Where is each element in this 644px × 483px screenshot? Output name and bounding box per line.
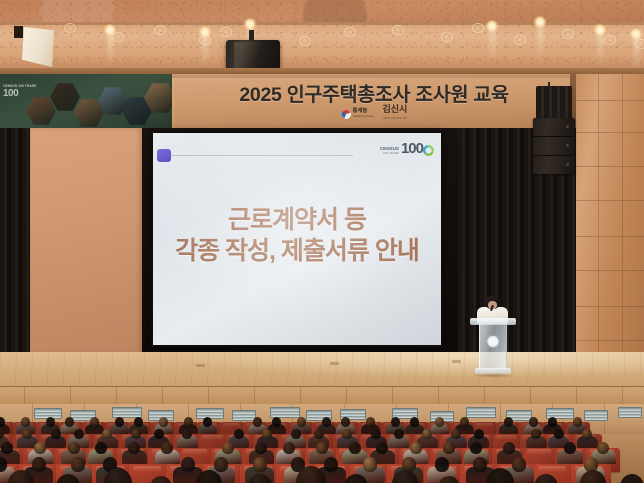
attendee-head: [451, 429, 461, 440]
attendee-head: [554, 429, 564, 440]
seat-highlight: [496, 435, 516, 440]
attendee-head: [474, 429, 484, 440]
wall-panel-seam: [576, 270, 644, 271]
ceiling-soffit-band: [0, 22, 644, 70]
statistics-korea-logo: 통계청 Statistics Korea: [341, 109, 374, 120]
census-logo-sub: 100 YEARS: [380, 151, 399, 156]
census-centennial-photo-banner: CENSUS 100 YEARS 100: [0, 74, 176, 130]
statistics-korea-label: 통계청 Statistics Korea: [353, 109, 374, 120]
taegeuk-mark-icon: [341, 109, 351, 119]
attendee-head: [573, 417, 582, 427]
attendee-head: [460, 417, 469, 427]
attendee-head: [90, 417, 99, 427]
ceiling-downlight-housing: [604, 35, 616, 45]
slide-title: 근로계약서 등 각종 작성, 제출서류 안내: [153, 205, 441, 267]
attendee-head: [297, 417, 306, 427]
line-array-upper-module: [536, 86, 572, 120]
attendee-head: [529, 417, 538, 427]
attendee-head: [74, 429, 84, 440]
attendee-head: [366, 417, 375, 427]
seat-highlight: [133, 466, 161, 472]
attendee-head: [68, 442, 80, 455]
attendee-head: [283, 442, 295, 455]
attendee-head: [234, 429, 244, 440]
seat-highlight: [202, 435, 222, 440]
ceiling-downlight-housing: [441, 32, 453, 42]
census-logo-number: 100: [401, 142, 423, 156]
attendee-head: [371, 429, 381, 440]
slide-header-rule: [171, 155, 353, 156]
attendee-head: [322, 417, 331, 427]
ceiling-downlight-housing: [64, 23, 76, 33]
attendee-head: [159, 417, 168, 427]
attendee-head: [71, 457, 85, 472]
ceiling-downlight-housing: [220, 27, 232, 37]
attendee-head: [253, 417, 262, 427]
stage-floor-marker-1: [196, 364, 205, 367]
attendee-head: [32, 457, 46, 472]
attendee-head: [21, 417, 30, 427]
attendee-head: [154, 429, 164, 440]
attendee-head: [394, 429, 404, 440]
centennial-logo-number: 100: [3, 88, 18, 99]
lectern-shadow: [471, 373, 515, 378]
attendee-head: [435, 417, 444, 427]
ceiling-downlight-housing: [562, 29, 574, 39]
projection-screen: CENSUS 100 YEARS 100 근로계약서 등 각종 작성, 제출서류…: [153, 133, 441, 345]
seating-area: [0, 404, 644, 483]
wall-panel-seam: [576, 132, 644, 133]
wall-panel-seam: [576, 100, 644, 101]
census-100-slide-logo: CENSUS 100 YEARS 100: [380, 142, 434, 156]
wall-panel-seam: [576, 340, 644, 341]
wall-panel-seam-vertical: [622, 74, 623, 359]
attendee-head: [131, 429, 141, 440]
seat-highlight: [183, 449, 207, 454]
wall-panel-seam: [576, 200, 644, 201]
attendee-head: [316, 442, 328, 455]
wall-air-vent-15: [584, 410, 608, 421]
attendee-head: [341, 417, 350, 427]
attendee-head: [115, 417, 124, 427]
attendee-head: [410, 442, 422, 455]
seat-highlight: [476, 423, 494, 427]
attendee-head: [548, 417, 557, 427]
wall-panel-seam: [576, 236, 644, 237]
auditorium-scene: CENSUS 100 YEARS 100 2025 인구주택총조사 조사원 교육…: [0, 0, 644, 483]
slide-title-line1: 근로계약서 등: [228, 206, 366, 234]
banner-logo-row: 통계청 Statistics Korea 김신시 KIMSI CENSUS 10…: [172, 105, 576, 123]
ceiling-downlight-housing: [635, 39, 644, 49]
wall-panel-seam: [576, 306, 644, 307]
attendee-head: [1, 442, 13, 455]
ceiling-downlight-housing: [472, 23, 484, 33]
attendee-head: [324, 457, 338, 472]
attendee-head: [410, 417, 419, 427]
spotlight-glow: [537, 25, 544, 59]
hexagon-photo-2: [50, 82, 80, 112]
attendee-head: [214, 457, 228, 472]
spotlight-glow: [597, 33, 604, 67]
attendee-head: [65, 417, 74, 427]
attendee-head: [504, 417, 513, 427]
right-wall-panel: [576, 74, 644, 359]
stage-floor-marker-2: [330, 362, 339, 365]
attendee-head: [181, 457, 195, 472]
projection-screen-frame: CENSUS 100 YEARS 100 근로계약서 등 각종 작성, 제출서류…: [151, 131, 443, 347]
wall-air-vent-12: [466, 407, 496, 418]
centennial-100-logo: CENSUS 100 YEARS 100: [3, 84, 36, 99]
attendee-head: [272, 417, 281, 427]
loudspeaker-module-2: [533, 137, 575, 155]
census-logo-text: CENSUS 100 YEARS: [380, 146, 399, 156]
attendee-head: [564, 442, 576, 455]
attendee-head: [222, 442, 234, 455]
ceiling-downlight-housing: [112, 32, 124, 42]
attendee-head: [391, 417, 400, 427]
attendee-head: [435, 457, 449, 472]
hexagon-photo-1: [26, 96, 56, 126]
attendee-head: [51, 429, 61, 440]
event-banner-title: 2025 인구주택총조사 조사원 교육: [172, 78, 576, 107]
attendee-head: [46, 417, 55, 427]
attendee-head: [134, 417, 143, 427]
ceiling-downlight-housing: [154, 25, 166, 35]
left-wall-panel: [30, 128, 142, 354]
ceiling-downlight-housing: [392, 25, 404, 35]
attendee-head: [512, 457, 526, 472]
slide-title-line2: 각종 작성, 제출서류 안내: [153, 236, 441, 267]
statistics-korea-label-en: Statistics Korea: [353, 114, 374, 120]
sponsor-logo: 김신시 KIMSI CENSUS 100: [383, 105, 408, 123]
attendee-head: [291, 429, 301, 440]
attendee-head: [473, 457, 487, 472]
loudspeaker-module-3: [533, 156, 575, 174]
spotlight-glow: [489, 29, 496, 63]
wall-air-vent-16: [618, 407, 642, 418]
loudspeaker-module-1: [533, 118, 575, 136]
census-logo-swirl-icon: [423, 145, 434, 156]
ceiling-downlight-housing: [344, 27, 356, 37]
acoustic-panel-bracket: [14, 26, 23, 38]
seat-highlight: [538, 466, 566, 472]
lectern-emblem: [488, 336, 499, 347]
attendee-head: [349, 442, 361, 455]
ceiling-downlight-housing: [514, 35, 526, 45]
seat-highlight: [527, 449, 551, 454]
attendee-head: [184, 417, 193, 427]
sponsor-logo-label: 김신시: [383, 104, 408, 114]
stage-floor-grain: [0, 352, 644, 390]
attendee-head: [363, 457, 377, 472]
attendee-head: [203, 417, 212, 427]
ceiling-downlight-housing: [199, 35, 211, 45]
front-row-head: [620, 474, 644, 483]
statistics-korea-label-ko: 통계청: [353, 108, 367, 114]
attendee-head: [314, 429, 324, 440]
slide-accent-tab: [157, 149, 171, 162]
seat-highlight: [223, 423, 241, 427]
wall-panel-seam-vertical: [598, 74, 599, 359]
presenter-at-lectern: [470, 296, 516, 382]
stage-floor-marker-3: [452, 360, 461, 363]
attendee-head: [443, 442, 455, 455]
event-banner: 2025 인구주택총조사 조사원 교육 통계청 Statistics Korea…: [172, 74, 576, 130]
line-array-loudspeakers: [533, 118, 575, 176]
attendee-head: [95, 442, 107, 455]
wall-panel-seam: [576, 166, 644, 167]
sponsor-logo-sublabel: KIMSI CENSUS 100: [383, 114, 408, 123]
ceiling-downlight-housing: [299, 36, 311, 46]
attendee-head: [253, 457, 267, 472]
